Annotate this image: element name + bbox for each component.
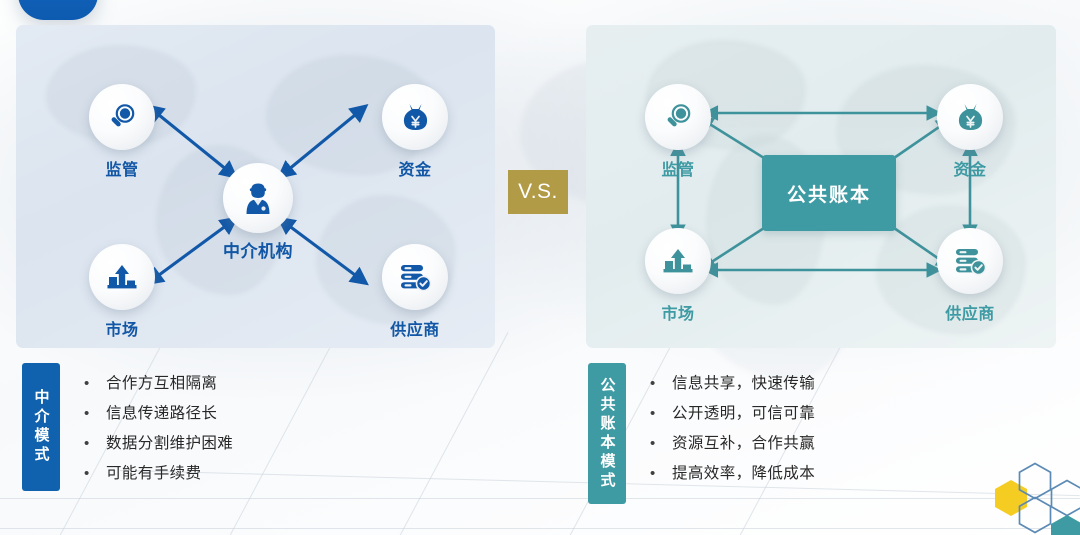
node-disc: [937, 84, 1003, 150]
bullet-marker: •: [84, 406, 106, 421]
node-disc: [937, 228, 1003, 294]
node-disc: [645, 84, 711, 150]
node-disc: [645, 228, 711, 294]
public-ledger-box[interactable]: 公共账本: [762, 155, 896, 231]
node-disc: [89, 244, 155, 310]
node-label: 监管: [105, 156, 138, 180]
node-regulator-left[interactable]: 监管: [89, 84, 155, 150]
node-market-left[interactable]: 市场: [89, 244, 155, 310]
node-disc: [223, 163, 293, 233]
slide-canvas: 监管 资金: [0, 0, 1080, 535]
node-funds-right[interactable]: 资金: [937, 84, 1003, 150]
bullet-text: 资源互补，合作共赢: [672, 431, 815, 453]
vs-label: V.S.: [518, 180, 558, 204]
hexagon-decoration-group: [988, 459, 1080, 535]
hexagon-outline-bottom-icon: [1018, 496, 1048, 530]
public-ledger-bullet-list: • 信息共享，快速传输 • 公开透明，可信可靠 • 资源互补，合作共赢 • 提高…: [650, 371, 815, 491]
bullet-marker: •: [650, 406, 672, 421]
bullet-marker: •: [650, 436, 672, 451]
list-item: • 资源互补，合作共赢: [650, 431, 815, 461]
magnifier-icon: [662, 101, 694, 133]
bullet-text: 公开透明，可信可靠: [672, 401, 815, 423]
magnifier-icon: [106, 101, 138, 133]
hexagon-outline-top-icon: [1018, 462, 1048, 496]
node-label: 供应商: [945, 300, 995, 324]
bullet-text: 数据分割维护困难: [106, 431, 233, 453]
intermediary-model-panel: 监管 资金: [16, 25, 495, 348]
node-supplier-left[interactable]: 供应商: [382, 244, 448, 310]
vs-badge: V.S.: [508, 170, 568, 214]
bullet-marker: •: [84, 436, 106, 451]
tag-public-ledger-mode: 公共账本模式: [588, 363, 626, 504]
bullet-text: 提高效率，降低成本: [672, 461, 815, 483]
hexagon-teal-icon: [1050, 514, 1080, 535]
public-ledger-model-panel: 公共账本 监管: [586, 25, 1056, 348]
tag-label: 公共账本模式: [600, 377, 615, 491]
intermediary-bullet-list: • 合作方互相隔离 • 信息传递路径长 • 数据分割维护困难 • 可能有手续费: [84, 371, 233, 491]
node-label: 资金: [953, 156, 986, 180]
list-item: • 合作方互相隔离: [84, 371, 233, 401]
node-supplier-right[interactable]: 供应商: [937, 228, 1003, 294]
node-funds-left[interactable]: 资金: [382, 84, 448, 150]
node-disc: [89, 84, 155, 150]
list-item: • 公开透明，可信可靠: [650, 401, 815, 431]
bullet-text: 可能有手续费: [106, 461, 201, 483]
database-check-icon: [399, 263, 432, 292]
node-regulator-right[interactable]: 监管: [645, 84, 711, 150]
node-label: 市场: [105, 316, 138, 340]
database-check-icon: [954, 247, 987, 276]
node-label: 供应商: [390, 316, 440, 340]
public-ledger-label: 公共账本: [787, 180, 871, 207]
list-item: • 信息传递路径长: [84, 401, 233, 431]
node-label: 监管: [661, 156, 694, 180]
corner-badge: [18, 0, 98, 20]
bar-chart-up-icon: [106, 263, 138, 291]
bullet-marker: •: [650, 466, 672, 481]
list-item: • 数据分割维护困难: [84, 431, 233, 461]
money-bag-yen-icon: [400, 101, 431, 133]
bullet-text: 合作方互相隔离: [106, 371, 217, 393]
node-market-right[interactable]: 市场: [645, 228, 711, 294]
list-item: • 信息共享，快速传输: [650, 371, 815, 401]
list-item: • 可能有手续费: [84, 461, 233, 491]
money-bag-yen-icon: [955, 101, 986, 133]
bullet-marker: •: [650, 376, 672, 391]
list-item: • 提高效率，降低成本: [650, 461, 815, 491]
node-disc: [382, 244, 448, 310]
node-label: 市场: [661, 300, 694, 324]
bullet-marker: •: [84, 466, 106, 481]
agent-person-icon: [243, 181, 273, 215]
node-disc: [382, 84, 448, 150]
hexagon-outline-right-icon: [1050, 479, 1080, 513]
node-label: 资金: [398, 156, 431, 180]
tag-intermediary-mode: 中介模式: [22, 363, 60, 491]
bullet-marker: •: [84, 376, 106, 391]
bar-chart-up-icon: [662, 247, 694, 275]
tag-label: 中介模式: [34, 389, 49, 465]
node-label: 中介机构: [223, 237, 293, 262]
bullet-text: 信息共享，快速传输: [672, 371, 815, 393]
bullet-text: 信息传递路径长: [106, 401, 217, 423]
node-intermediary-center[interactable]: 中介机构: [223, 163, 293, 233]
